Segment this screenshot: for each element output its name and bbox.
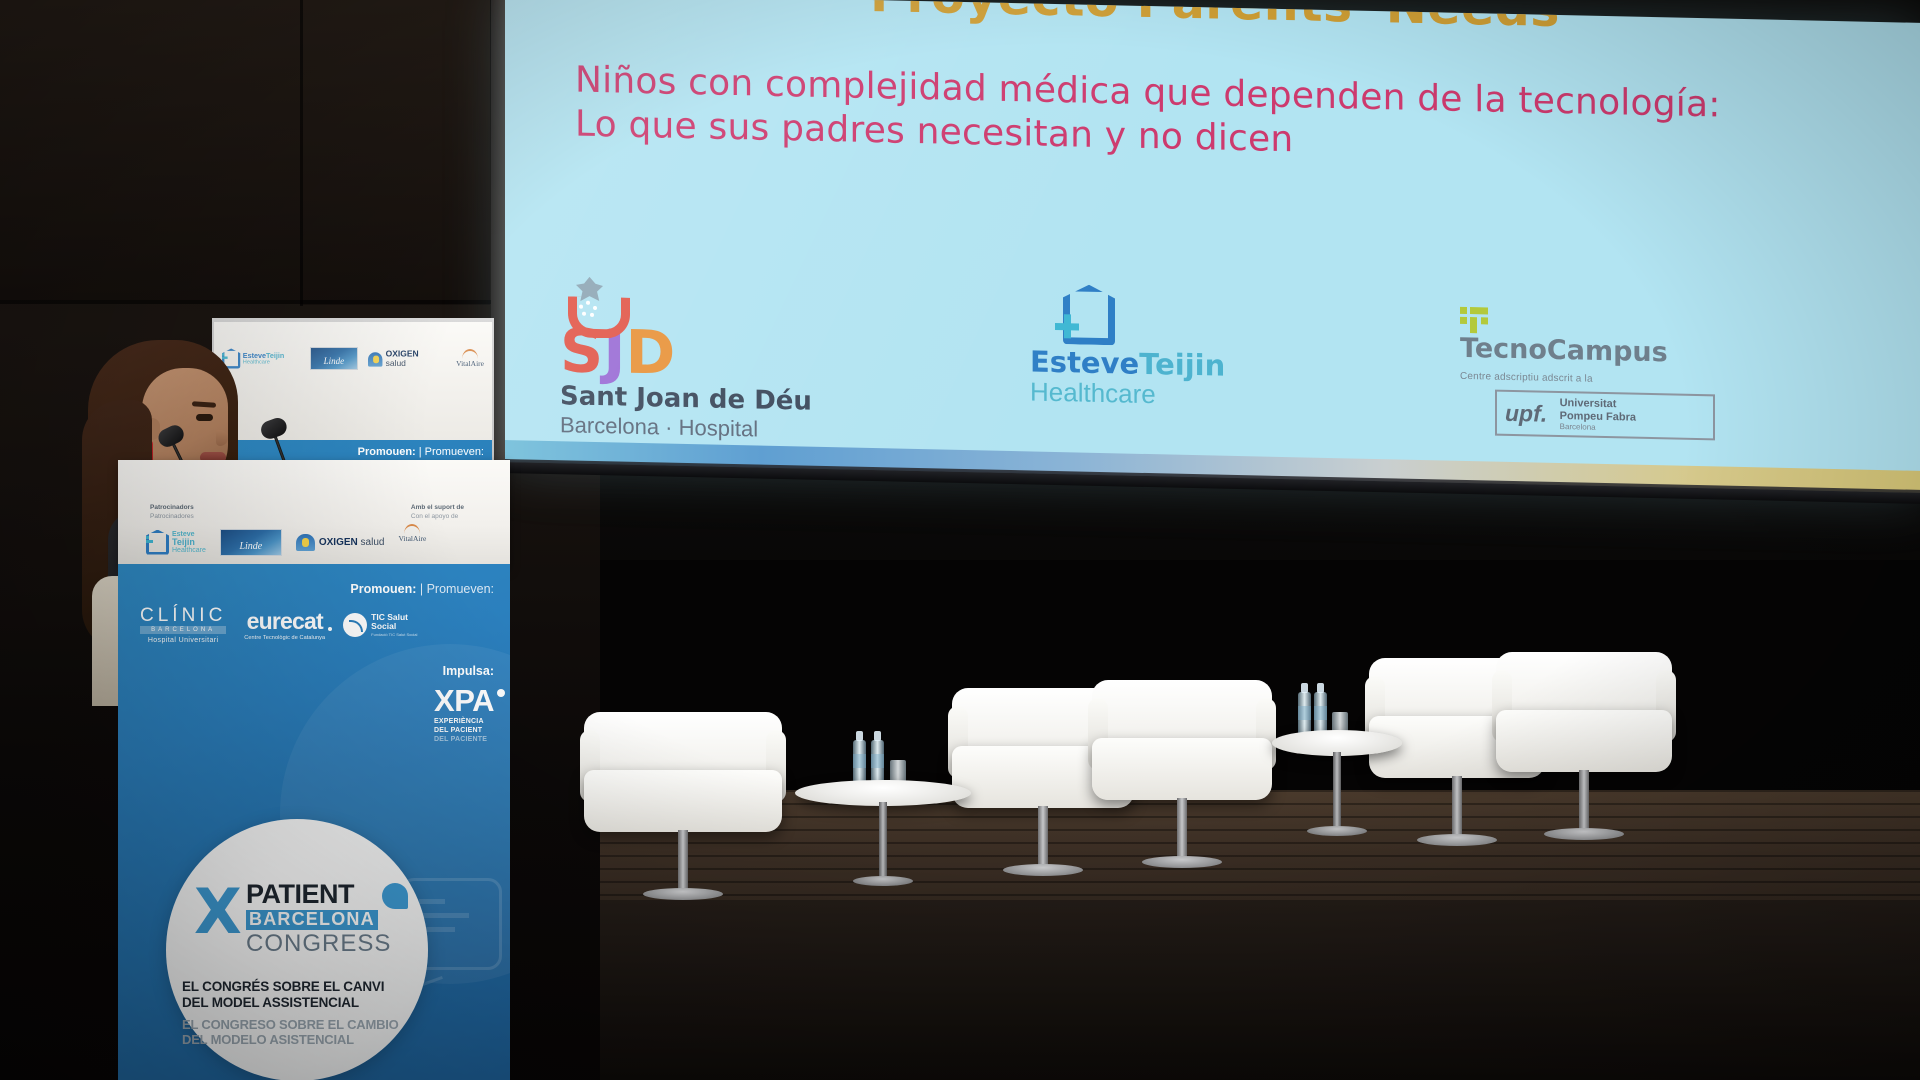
banner-sponsor-vitalaire: VitalAire xyxy=(456,349,484,368)
esteve-tagline: Healthcare xyxy=(1030,376,1280,412)
upf-city: Barcelona xyxy=(1560,422,1636,433)
congress-logo-circle: X PATIENT BARCELONA CONGRESS EL CONGRÉS … xyxy=(166,819,428,1080)
xpa-tagline: EXPERIÈNCIA DEL PACIENT DEL PACIENTE xyxy=(434,718,494,744)
house-cross-icon xyxy=(146,530,169,555)
tecnocampus-name: TecnoCampus xyxy=(1460,333,1668,369)
banner-promoters-label: Promouen: | Promueven: xyxy=(358,446,484,458)
speaker-podium: Patrocinadors Patrocinadores Amb el supo… xyxy=(118,460,510,1080)
esteve-word-b: Teijin xyxy=(1139,347,1225,383)
sponsor-vitalaire: VitalAire xyxy=(398,524,426,560)
tecnocampus-logo: TecnoCampus Centre adscriptiu adscrit a … xyxy=(1460,307,1700,387)
sponsors-label-left: Patrocinadors Patrocinadores xyxy=(150,504,194,522)
congress-logo-patient: PATIENT xyxy=(246,881,400,908)
wall-seam xyxy=(0,300,492,304)
upf-text: Universitat Pompeu Fabra Barcelona xyxy=(1560,397,1636,433)
promoter-eurecat-logo: eurecat Centre Tecnològic de Catalunya xyxy=(244,610,325,641)
podium-desktop: Patrocinadors Patrocinadores Amb el supo… xyxy=(118,460,510,568)
banner-sponsor-oxigen: OXIGEN salud xyxy=(368,349,435,368)
water-bottle xyxy=(853,740,866,784)
house-cross-icon xyxy=(1055,284,1107,343)
sjd-logo: S J D Sant Joan de Déu Barcelona · Hospi… xyxy=(560,278,860,445)
upf-logo: upf. Universitat Pompeu Fabra Barcelona xyxy=(1495,390,1715,441)
promoters-logo-row: CLÍNIC BARCELONA Hospital Universitari e… xyxy=(140,606,490,644)
stage-floor-planks xyxy=(600,790,1920,900)
sponsor-linde: Linde xyxy=(220,529,282,556)
upf-mark: upf. xyxy=(1505,399,1547,427)
sjd-city: Barcelona · Hospital xyxy=(560,412,860,445)
slide-title: Proyecto Parents' Needs xyxy=(505,0,1920,46)
tecnocampus-mark-icon xyxy=(1460,307,1490,334)
sjd-mark-icon xyxy=(560,278,620,331)
xpa-wordmark: XPA xyxy=(434,686,494,715)
congress-logo-congress: CONGRESS xyxy=(246,931,400,956)
sjd-letter-d: D xyxy=(626,326,676,382)
tecnocampus-subtitle: Centre adscriptiu adscrit a la xyxy=(1460,371,1700,387)
driver-label: Impulsa: xyxy=(443,664,494,678)
promoters-label: Promouen: | Promueven: xyxy=(350,582,494,596)
vitalaire-swoosh-icon xyxy=(404,524,420,534)
water-bottle xyxy=(871,740,884,784)
projection-screen: Proyecto Parents' Needs Niños con comple… xyxy=(505,0,1920,493)
congress-tagline-es: EL CONGRESO SOBRE EL CAMBIO DEL MODELO A… xyxy=(182,1017,416,1048)
banner-sponsor-linde: Linde xyxy=(310,347,358,370)
conference-photo-scene: Proyecto Parents' Needs Niños con comple… xyxy=(0,0,1920,1080)
stage-front-face xyxy=(600,900,1920,1080)
wall-panel xyxy=(300,0,490,305)
xpa-logo: XPA EXPERIÈNCIA DEL PACIENT DEL PACIENTE xyxy=(434,686,494,744)
congress-logo-x: X xyxy=(194,887,242,937)
wall-seam xyxy=(300,0,303,306)
water-bottle xyxy=(1298,692,1311,736)
promoter-tic-salut-logo: TIC Salut Social Fundació TIC Salut Soci… xyxy=(343,613,417,638)
promoter-clinic-logo: CLÍNIC BARCELONA Hospital Universitari xyxy=(140,606,226,644)
podium-banner: Promouen: | Promueven: CLÍNIC BARCELONA … xyxy=(118,564,510,1080)
sponsor-esteve-teijin: EsteveTeijin Healthcare xyxy=(146,524,206,560)
tic-wave-icon xyxy=(343,613,367,637)
oxigen-mark-icon xyxy=(296,534,315,551)
slide-logo-row: S J D Sant Joan de Déu Barcelona · Hospi… xyxy=(505,272,1920,453)
upf-name: Universitat xyxy=(1560,397,1636,411)
sponsors-label-right: Amb el suport de Con el apoyo de xyxy=(411,504,464,522)
congress-tagline-ca: EL CONGRÉS SOBRE EL CANVI DEL MODEL ASSI… xyxy=(182,979,416,1011)
speech-dot-icon xyxy=(382,883,408,909)
sponsor-oxigen-salud: OXIGEN salud xyxy=(296,524,385,560)
esteve-word-a: Esteve xyxy=(1030,344,1139,380)
esteve-teijin-logo: EsteveTeijin Healthcare xyxy=(1030,283,1280,412)
congress-logo-barcelona: BARCELONA xyxy=(246,910,378,930)
wall-panel xyxy=(0,0,300,300)
